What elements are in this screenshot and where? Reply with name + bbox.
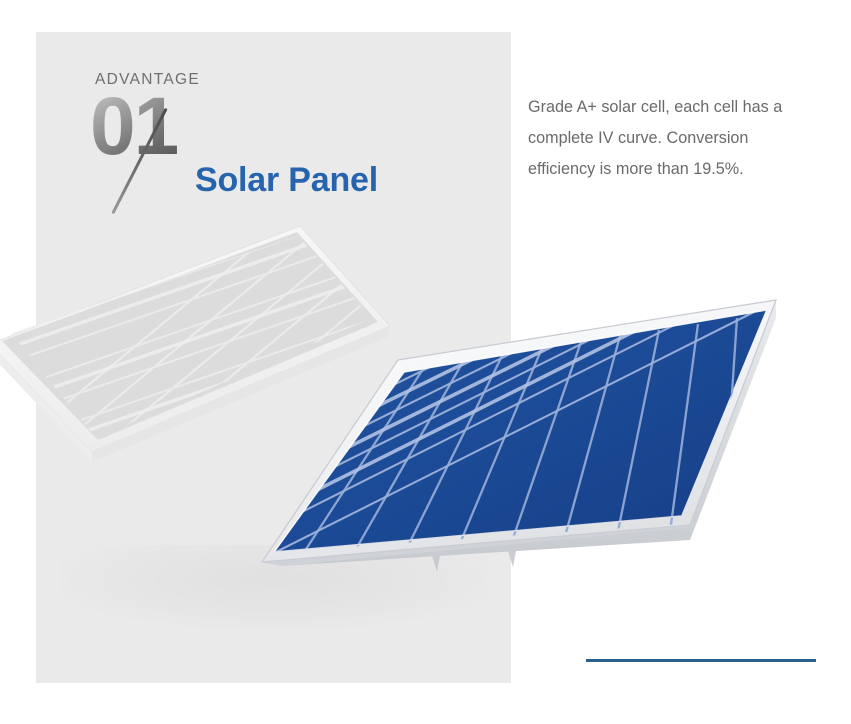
page-title: Solar Panel [195, 161, 378, 200]
floor-shadow [60, 545, 490, 630]
advantage-number: 01 [90, 86, 177, 168]
description-paragraph: Grade A+ solar cell, each cell has a com… [528, 92, 820, 185]
page-root: ADVANTAGE 01 Solar Panel Grade A+ solar … [0, 0, 851, 724]
bottom-blue-rule [586, 659, 816, 662]
heading-block: ADVANTAGE 01 Solar Panel [94, 64, 454, 214]
